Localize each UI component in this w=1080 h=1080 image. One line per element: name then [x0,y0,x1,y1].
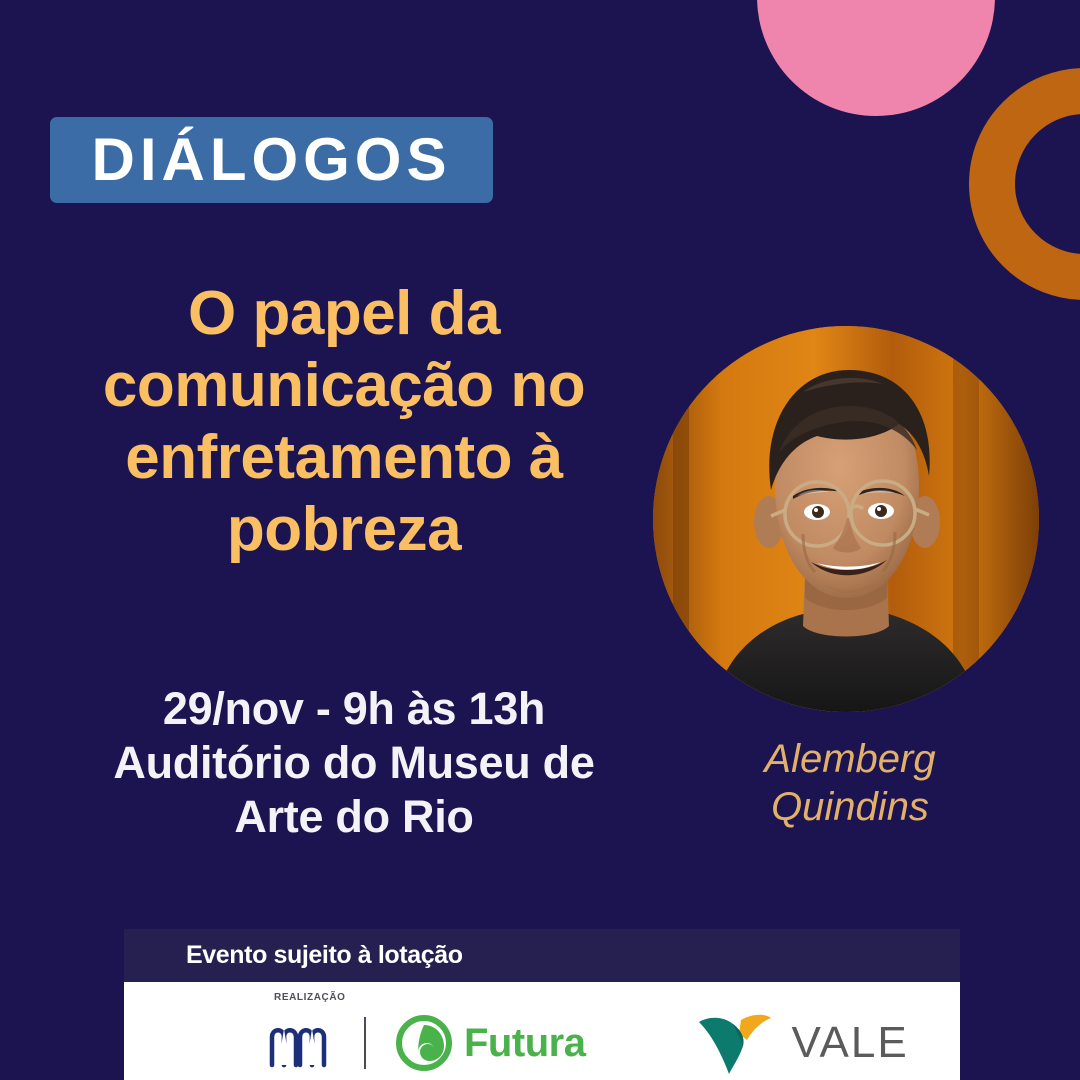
event-poster: DIÁLOGOS O papel da comunicação no enfre… [0,0,1080,1080]
roberto-marinho-logo [264,1015,336,1071]
speaker-last-name: Quindins [700,783,1000,831]
vale-logo: VALE [695,1012,908,1074]
vale-wordmark: VALE [791,1018,908,1068]
futura-mark-icon [394,1013,454,1073]
logo-separator [364,1017,366,1069]
dialogos-badge-label: DIÁLOGOS [91,130,451,190]
vale-mark-icon [695,1012,777,1074]
sponsor-logo-row: Futura VALE [264,1012,909,1074]
futura-wordmark: Futura [464,1021,585,1066]
dialogos-badge: DIÁLOGOS [50,117,493,203]
futura-logo: Futura [394,1013,585,1073]
realizacao-label: REALIZAÇÃO [274,992,346,1003]
sponsor-logo-card: REALIZAÇÃO [124,982,960,1080]
event-date-time: 29/nov - 9h às 13h [44,682,664,736]
sponsor-banner: Evento sujeito à lotação REALIZAÇÃO [124,929,960,1080]
capacity-notice-strip: Evento sujeito à lotação [124,929,960,982]
speaker-first-name: Alemberg [700,735,1000,783]
speaker-name: Alemberg Quindins [700,735,1000,831]
orange-ring-decoration [969,68,1080,300]
event-details: 29/nov - 9h às 13h Auditório do Museu de… [44,682,664,844]
event-venue-line-2: Arte do Rio [44,790,664,844]
speaker-portrait-photo [653,326,1039,712]
event-venue-line-1: Auditório do Museu de [44,736,664,790]
poster-headline: O papel da comunicação no enfretamento à… [44,278,644,566]
pink-circle-decoration [757,0,995,116]
capacity-notice-text: Evento sujeito à lotação [186,941,463,970]
